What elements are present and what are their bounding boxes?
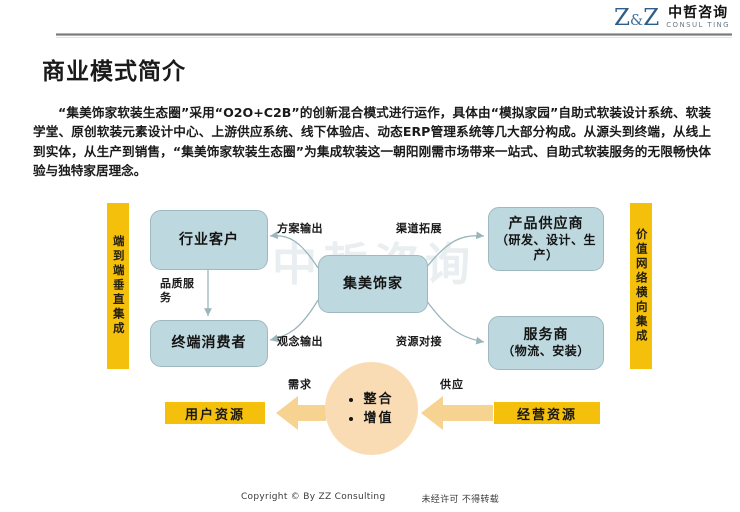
integration-item-1: 增值 (363, 409, 393, 428)
node-industry-customer[interactable]: 行业客户 (150, 210, 268, 270)
brand-logo: Z&Z 中哲咨询 CONSUL TING (560, 2, 730, 34)
arrow-demand-tail (298, 405, 326, 421)
logo-ampersand: & (630, 11, 643, 29)
node-end-consumer-title: 终端消费者 (172, 335, 247, 351)
logo-wordmark: Z&Z (614, 7, 659, 30)
node-service-provider[interactable]: 服务商 （物流、安装） (488, 316, 604, 370)
footer: Copyright © By ZZ Consulting 未经许可 不得转载 (0, 492, 740, 505)
label-plan-output: 方案输出 (277, 222, 323, 236)
bar-user-resource[interactable]: 用户资源 (165, 402, 265, 424)
header-divider-shadow (56, 37, 732, 38)
arrow-supply-tail (443, 405, 493, 421)
node-product-supplier-title: 产品供应商 (509, 216, 584, 232)
node-product-supplier[interactable]: 产品供应商 （研发、设计、生产） (488, 207, 604, 271)
node-center-jimeishijia[interactable]: 集美饰家 (318, 255, 428, 313)
logo-company-cn: 中哲咨询 (668, 6, 728, 21)
vertical-bar-left-label: 端到端垂直集成 (112, 235, 124, 337)
node-service-provider-title: 服务商 (524, 327, 569, 343)
label-demand: 需求 (288, 376, 312, 392)
logo-company-en: CONSUL TING (666, 22, 730, 29)
node-service-provider-subtitle: （物流、安装） (502, 344, 590, 358)
arrow-demand-head (276, 396, 298, 430)
logo-letter-z2: Z (643, 5, 659, 31)
label-quality-service: 品质服务 (160, 277, 198, 305)
footer-copyright: Copyright © By ZZ Consulting (241, 492, 386, 505)
node-integration-circle[interactable]: 整合 增值 (325, 362, 418, 455)
label-channel-expansion: 渠道拓展 (396, 222, 442, 236)
bar-business-resource[interactable]: 经营资源 (494, 402, 600, 424)
arrow-supply-head (421, 396, 443, 430)
node-end-consumer[interactable]: 终端消费者 (150, 320, 268, 367)
intro-paragraph: “集美饰家软装生态圈”采用“O2O+C2B”的创新混合模式进行运作，具体由“模拟… (33, 103, 711, 181)
label-supply: 供应 (440, 376, 464, 392)
label-concept-output: 观念输出 (277, 335, 323, 349)
vertical-bar-right: 价值网络横向集成 (630, 203, 652, 369)
slide-canvas: Z&Z 中哲咨询 CONSUL TING 商业模式简介 “集美饰家软装生态圈”采… (0, 0, 740, 512)
footer-notice: 未经许可 不得转载 (421, 492, 499, 505)
vertical-bar-left: 端到端垂直集成 (107, 203, 129, 369)
header-divider (56, 33, 732, 36)
integration-list: 整合 增值 (349, 390, 393, 428)
integration-item-0: 整合 (363, 390, 393, 409)
node-center-title: 集美饰家 (343, 276, 403, 292)
page-title: 商业模式简介 (42, 52, 186, 86)
logo-text-block: 中哲咨询 CONSUL TING (666, 6, 730, 29)
label-resource-docking: 资源对接 (396, 335, 442, 349)
logo-letter-z1: Z (614, 5, 630, 31)
business-model-diagram: 中哲咨询 端到端垂直集成 价值网络横向集成 行业客户 (0, 190, 740, 480)
vertical-bar-right-label: 价值网络横向集成 (635, 228, 647, 344)
node-product-supplier-subtitle: （研发、设计、生产） (489, 233, 603, 262)
node-industry-customer-title: 行业客户 (179, 232, 239, 248)
